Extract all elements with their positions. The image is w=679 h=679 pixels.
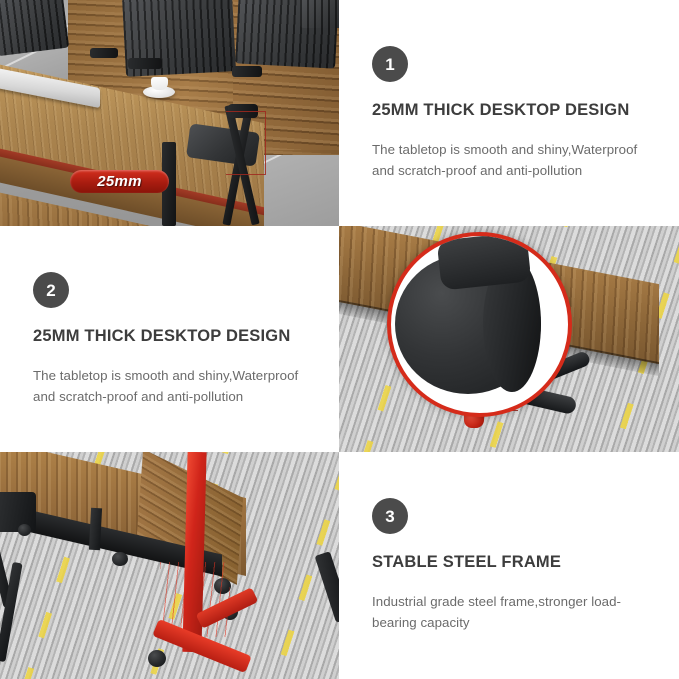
feature-body-2: The tabletop is smooth and shiny,Waterpr… [33, 365, 315, 407]
dimension-leader-line [226, 111, 266, 175]
coffee-cup [151, 77, 168, 90]
feature-text-2: 2 25MM THICK DESKTOP DESIGN The tabletop… [0, 226, 339, 452]
feature-photo-3 [0, 452, 339, 679]
dimension-callout-badge: 25mm [70, 170, 169, 193]
chair-bracket [90, 48, 118, 58]
chair-slats [0, 0, 69, 56]
feature-body-1: The tabletop is smooth and shiny,Waterpr… [372, 139, 655, 181]
table-leg-black [89, 508, 102, 551]
caster-wheel [112, 552, 128, 566]
feature-photo-2 [339, 226, 679, 452]
dimension-callout-label: 25mm [97, 173, 142, 190]
caster-zoom-circle [387, 232, 572, 417]
chair-slats [300, 0, 339, 28]
product-feature-infographic: 25mm 1 25MM THICK DESKTOP DESIGN The tab… [0, 0, 679, 679]
chair-back [300, 0, 339, 28]
step-badge-3: 3 [372, 498, 408, 534]
caster-wheel [18, 524, 31, 536]
step-badge-1: 1 [372, 46, 408, 82]
step-badge-2: 2 [33, 272, 69, 308]
feature-headline-1: 25MM THICK DESKTOP DESIGN [372, 101, 659, 119]
feature-headline-3: STABLE STEEL FRAME [372, 553, 659, 571]
chair-back [0, 0, 69, 56]
feature-text-3: 3 STABLE STEEL FRAME Industrial grade st… [339, 452, 679, 679]
feature-photo-1: 25mm [0, 0, 339, 226]
feature-headline-2: 25MM THICK DESKTOP DESIGN [33, 327, 319, 345]
feature-body-3: Industrial grade steel frame,stronger lo… [372, 591, 655, 633]
feature-text-1: 1 25MM THICK DESKTOP DESIGN The tabletop… [339, 0, 679, 226]
chair-bracket [232, 66, 262, 77]
caster-wheel [148, 650, 166, 667]
caster-wheel-hub [437, 232, 532, 291]
chair-bracket [128, 58, 162, 69]
